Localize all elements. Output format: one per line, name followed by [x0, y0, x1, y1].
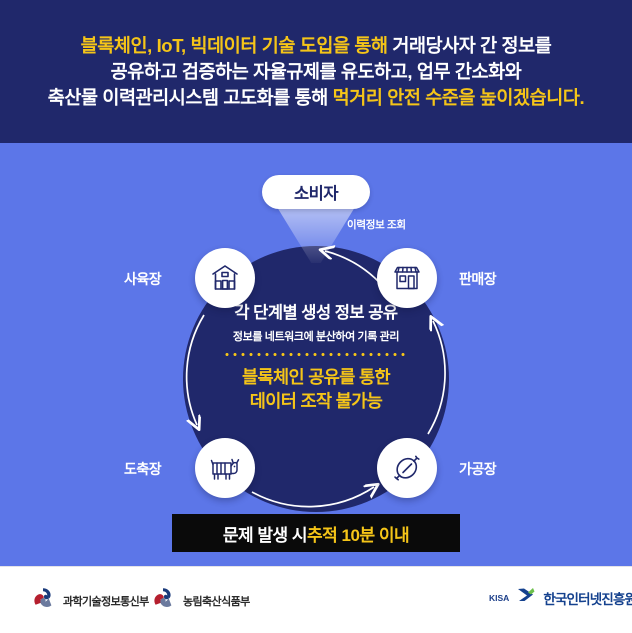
gov-logo-mafra-name: 농림축산식품부 — [183, 593, 250, 609]
taegeuk-icon — [150, 585, 176, 616]
taegeuk-icon — [30, 585, 56, 616]
header-banner: 블록체인, IoT, 빅데이터 기술 도입을 통해 거래당사자 간 정보를 공유… — [0, 0, 632, 143]
core-highlight-line-1: 블록체인 공유를 통한 — [196, 365, 436, 389]
callout-bar: 문제 발생 시 추적 10분 이내 — [172, 514, 460, 552]
header-line-2: 공유하고 검증하는 자율규제를 유도하고, 업무 간소화와 — [111, 59, 522, 85]
barn-icon — [210, 263, 240, 293]
core-subtitle: 정보를 네트워크에 분산하여 기록 관리 — [196, 328, 436, 344]
header-line-1: 블록체인, IoT, 빅데이터 기술 도입을 통해 거래당사자 간 정보를 — [81, 33, 552, 59]
gov-logo-msit: 과학기술정보통신부 — [30, 585, 149, 616]
cow-icon — [209, 453, 241, 483]
footer-bar: 과학기술정보통신부 농림축산식품부 KISA 한국인터넷진흥원 — [0, 566, 632, 633]
storefront-icon — [392, 263, 422, 293]
header-line-3-highlight: 먹거리 안전 수준을 높이겠습니다. — [333, 87, 585, 108]
callout-text-highlight: 추적 10분 이내 — [307, 521, 409, 546]
node-farm — [195, 248, 255, 308]
diagram-band: 소비자 이력정보 조회 각 단계별 생성 정보 공유 정보를 네트워크에 — [0, 143, 632, 566]
kisa-x-icon — [516, 585, 536, 610]
header-line-1-rest: 거래당사자 간 정보를 — [392, 35, 551, 56]
node-label-farm: 사육장 — [124, 269, 161, 289]
header-line-3-rest: 축산물 이력관리시스템 고도화를 통해 — [48, 87, 333, 108]
sausage-icon — [392, 453, 422, 483]
callout-text-plain: 문제 발생 시 — [223, 521, 307, 546]
consumer-label: 소비자 — [294, 180, 338, 204]
infographic-poster: 블록체인, IoT, 빅데이터 기술 도입을 통해 거래당사자 간 정보를 공유… — [0, 0, 632, 633]
gov-logo-mafra: 농림축산식품부 — [150, 585, 250, 616]
footer-divider — [0, 566, 632, 567]
node-label-retail: 판매장 — [459, 269, 496, 289]
core-text-block: 각 단계별 생성 정보 공유 정보를 네트워크에 분산하여 기록 관리 블록체인… — [196, 303, 436, 413]
consumer-node: 소비자 — [262, 175, 370, 209]
kisa-logo-name: 한국인터넷진흥원 — [543, 588, 632, 608]
header-line-1-highlight: 블록체인, IoT, 빅데이터 기술 도입을 통해 — [81, 35, 393, 56]
header-line-3: 축산물 이력관리시스템 고도화를 통해 먹거리 안전 수준을 높이겠습니다. — [48, 85, 585, 111]
kisa-logo: KISA 한국인터넷진흥원 — [489, 585, 632, 610]
node-slaughter — [195, 438, 255, 498]
kisa-wordmark: KISA — [489, 593, 509, 603]
header-line-2-text: 공유하고 검증하는 자율규제를 유도하고, 업무 간소화와 — [111, 61, 522, 82]
node-process — [377, 438, 437, 498]
gov-logo-msit-name: 과학기술정보통신부 — [63, 593, 149, 609]
node-retail — [377, 248, 437, 308]
trace-lookup-label: 이력정보 조회 — [347, 217, 406, 232]
node-label-process: 가공장 — [459, 459, 496, 479]
core-highlight-line-2: 데이터 조작 불가능 — [196, 389, 436, 413]
node-label-slaughter: 도축장 — [124, 459, 161, 479]
dotted-divider — [223, 353, 409, 356]
